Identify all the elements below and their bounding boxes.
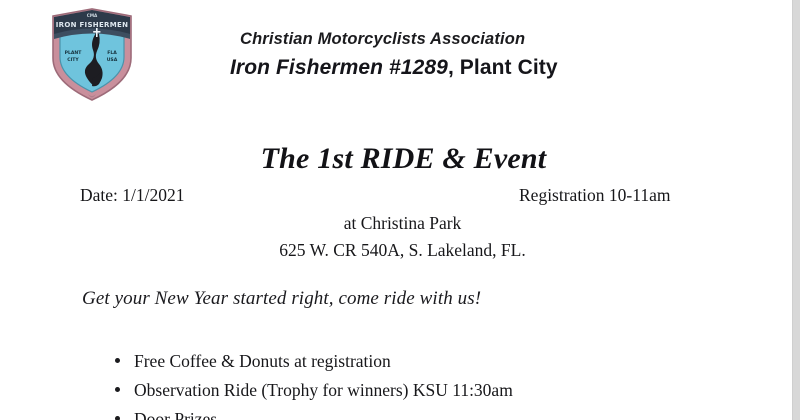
svg-text:USA: USA	[107, 57, 118, 63]
organization-heading: Christian Motorcyclists Association Iron…	[228, 30, 768, 80]
list-item: Observation Ride (Trophy for winners) KS…	[110, 376, 750, 405]
chapter-city: , Plant City	[448, 56, 558, 79]
list-item: Free Coffee & Donuts at registration	[110, 347, 750, 376]
bullet-dot-icon	[115, 387, 120, 392]
event-info-row: Date: 1/1/2021 Registration 10-11am	[0, 185, 793, 209]
list-item-label: Door Prizes	[134, 409, 217, 420]
event-date: Date: 1/1/2021	[80, 185, 185, 206]
chapter-name: Iron Fishermen #1289	[230, 56, 448, 79]
event-details-list: Free Coffee & Donuts at registration Obs…	[110, 347, 750, 420]
list-item-label: Free Coffee & Donuts at registration	[134, 351, 391, 371]
page-edge-strip	[792, 0, 800, 420]
flyer-page: CMA IRON FISHERMEN PLANT CITY FLA USA	[0, 0, 800, 420]
event-title: The 1st RIDE & Event	[0, 142, 793, 176]
event-tagline: Get your New Year started right, come ri…	[82, 288, 481, 310]
event-venue: at Christina Park 625 W. CR 540A, S. Lak…	[0, 213, 793, 261]
svg-text:CITY: CITY	[67, 57, 79, 63]
svg-text:PLANT: PLANT	[65, 50, 83, 56]
chapter-heading: Iron Fishermen #1289, Plant City	[230, 56, 768, 80]
organization-name: Christian Motorcyclists Association	[240, 30, 768, 49]
list-item: Door Prizes	[110, 405, 750, 420]
bullet-dot-icon	[115, 416, 120, 420]
svg-text:FLA: FLA	[107, 50, 117, 56]
venue-name: at Christina Park	[12, 213, 793, 234]
svg-text:CMA: CMA	[87, 13, 98, 18]
svg-text:IRON FISHERMEN: IRON FISHERMEN	[56, 21, 129, 29]
bullet-dot-icon	[115, 358, 120, 363]
list-item-label: Observation Ride (Trophy for winners) KS…	[134, 380, 513, 400]
iron-fishermen-shield-badge-icon: CMA IRON FISHERMEN PLANT CITY FLA USA	[46, 6, 138, 103]
letterhead: CMA IRON FISHERMEN PLANT CITY FLA USA	[0, 0, 793, 112]
event-registration-time: Registration 10-11am	[519, 185, 670, 206]
venue-address: 625 W. CR 540A, S. Lakeland, FL.	[12, 240, 793, 261]
